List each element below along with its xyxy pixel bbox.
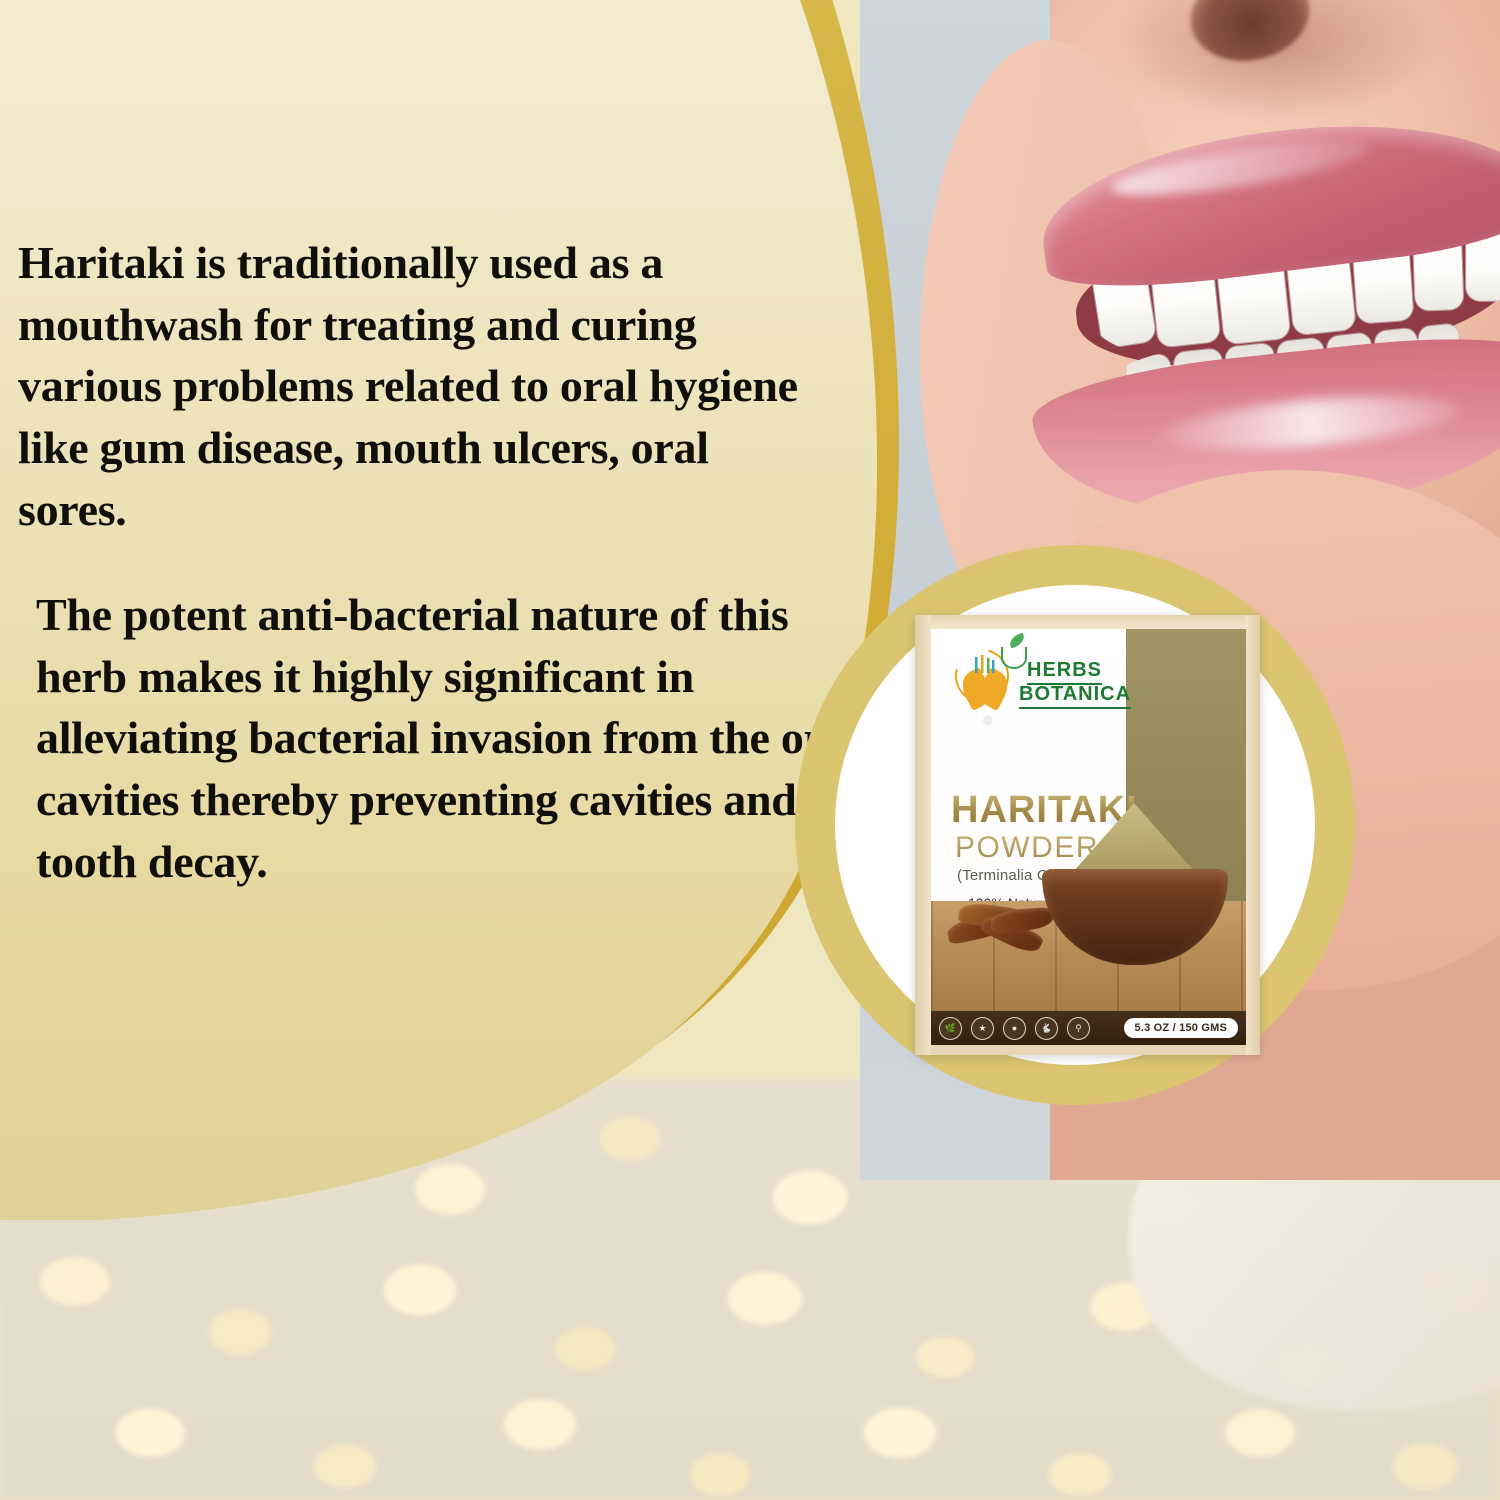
logo-sprout-icon	[973, 655, 995, 675]
infographic-canvas: Haritaki is traditionally used as a mout…	[0, 0, 1500, 1500]
copy-block: Haritaki is traditionally used as a mout…	[18, 232, 858, 892]
paragraph-one: Haritaki is traditionally used as a mout…	[18, 232, 808, 540]
product-subtitle: POWDER	[955, 831, 1099, 865]
paragraph-two: The potent anti-bacterial nature of this…	[36, 584, 866, 892]
package-edge-top	[915, 615, 1260, 629]
brand-name-line-2: BOTANICA	[1019, 683, 1131, 709]
brand-name-line-1: HERBS	[1027, 659, 1102, 685]
vegetarian-seal-icon: ●	[1003, 1017, 1026, 1040]
logo-mortar-leaf-icon	[1001, 647, 1027, 669]
organic-seal-icon: ★	[971, 1017, 994, 1040]
package-edge-right	[1246, 615, 1260, 1055]
leaf-seal-icon: 🌿	[939, 1017, 962, 1040]
net-weight-label: 5.3 OZ / 150 GMS	[1124, 1018, 1238, 1038]
gluten-free-seal-icon: ⚲	[1067, 1017, 1090, 1040]
certification-badges: 🌿 ★ ● 🐇 ⚲ 5.3 OZ / 150 GMS	[931, 1011, 1246, 1045]
dried-haritaki-pods	[947, 901, 1057, 953]
product-label: HERBS BOTANICA HARITAKI POWDER (Terminal…	[931, 629, 1246, 1045]
cruelty-free-seal-icon: 🐇	[1035, 1017, 1058, 1040]
product-package: HERBS BOTANICA HARITAKI POWDER (Terminal…	[915, 615, 1260, 1055]
brand-logo: HERBS BOTANICA	[949, 645, 1139, 707]
package-edge-left	[915, 615, 931, 1055]
product-title: HARITAKI	[951, 789, 1138, 832]
